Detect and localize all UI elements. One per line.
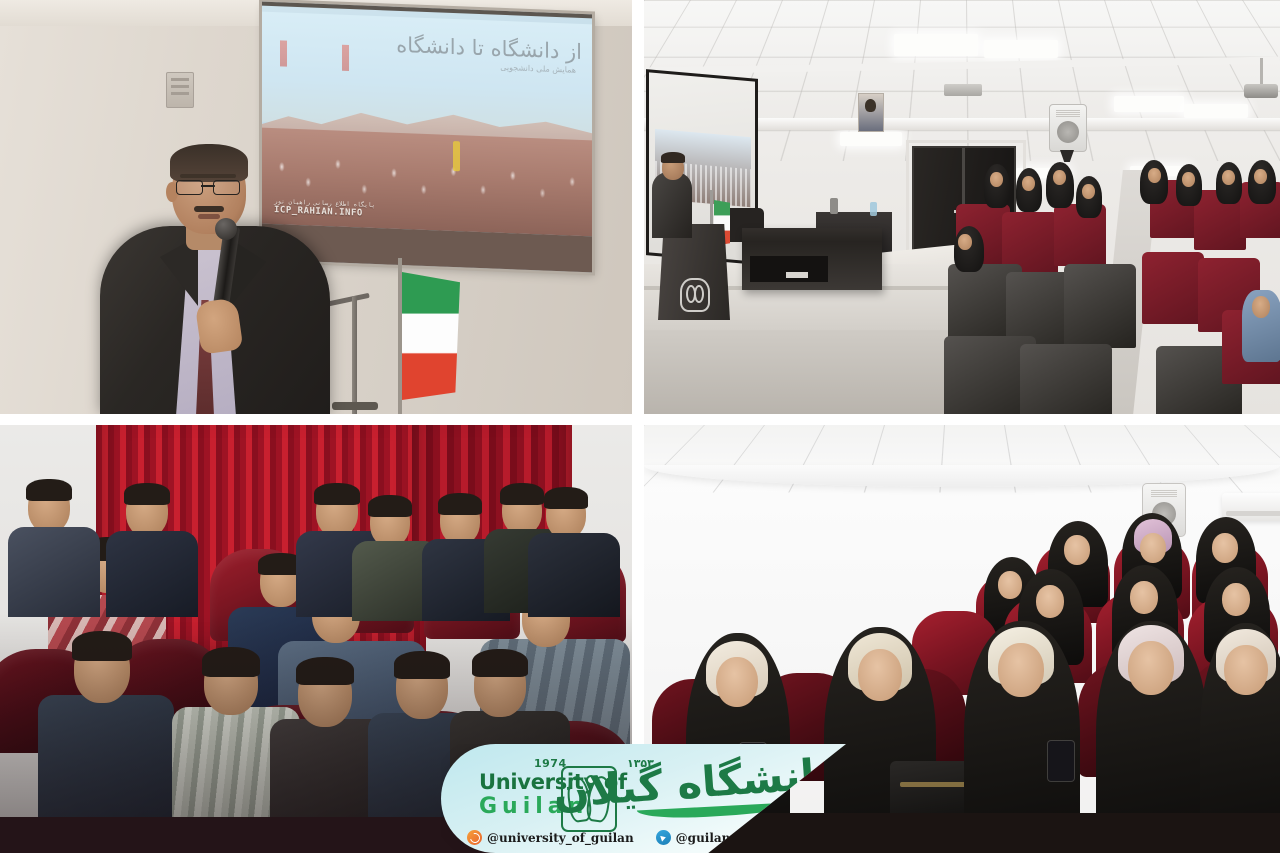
smartphone-icon — [1048, 741, 1074, 781]
person-hair — [438, 493, 482, 515]
photo-top-right-hall — [644, 0, 1280, 414]
person-torso — [106, 531, 198, 617]
speaker-hair — [661, 152, 685, 163]
ceiling-light-panel — [1114, 96, 1184, 112]
audience-face — [1252, 296, 1270, 318]
person-torso — [528, 533, 620, 617]
person-face — [716, 657, 758, 707]
person-face — [1140, 533, 1166, 563]
slide-flag-mid — [342, 45, 349, 71]
person-face — [1222, 583, 1250, 616]
person-hair — [202, 647, 260, 677]
hall-floor — [644, 330, 992, 414]
person-face — [1130, 581, 1158, 614]
audience-area — [954, 160, 1280, 414]
person-face — [1212, 533, 1238, 563]
person-hair — [500, 483, 544, 505]
mic-stand-pole — [352, 296, 357, 414]
person-face — [858, 649, 902, 701]
person-hair — [124, 483, 170, 505]
person-hair — [26, 479, 72, 501]
audience-face — [1148, 168, 1161, 183]
ceiling-light-panel — [894, 34, 978, 56]
person-face — [1128, 641, 1174, 695]
person-hair — [296, 657, 354, 685]
iran-flag-icon — [402, 272, 460, 400]
speaker-brow — [180, 174, 236, 178]
audience-face — [1053, 170, 1066, 185]
person-hair — [544, 487, 588, 509]
seat — [1020, 344, 1112, 414]
slide-yellow-banner — [453, 141, 460, 171]
slide-flag-left — [280, 40, 287, 66]
speaker-figure — [652, 172, 692, 238]
person-hair — [72, 631, 132, 661]
wall-portrait — [858, 93, 884, 132]
eyeglasses-icon — [176, 180, 240, 193]
audience-face — [1082, 184, 1095, 199]
person-face — [998, 643, 1044, 697]
photo-collage: از دانشگاه تا دانشگاه همایش ملی دانشجویی… — [0, 0, 1280, 853]
audience-face — [990, 172, 1003, 187]
speaker-mouth — [198, 214, 220, 219]
social-instagram[interactable]: @university_of_guilan — [467, 830, 634, 845]
water-bottle — [870, 202, 877, 216]
audience-face — [1182, 172, 1195, 187]
speaker-moustache — [194, 206, 224, 212]
projector-rod — [1260, 58, 1263, 86]
ceiling-light-panel — [1184, 104, 1248, 118]
seat — [1142, 252, 1204, 324]
person-torso — [8, 527, 100, 617]
instagram-icon[interactable] — [467, 830, 482, 845]
projector-icon — [1244, 84, 1278, 98]
person-hair — [472, 649, 528, 677]
stage-desk — [742, 228, 882, 290]
person-hair — [394, 651, 450, 679]
equipment-item — [830, 198, 838, 214]
seat — [1064, 264, 1136, 348]
audience-face — [958, 234, 972, 250]
audience-face — [1222, 170, 1235, 185]
ceiling-light-panel — [984, 40, 1058, 58]
audience-person — [954, 226, 984, 272]
person-hair — [314, 483, 360, 505]
flag-pole — [398, 258, 402, 414]
person-face — [1036, 585, 1064, 618]
audience-face — [1022, 176, 1035, 191]
slide-crowd — [262, 128, 592, 237]
instagram-handle[interactable]: @university_of_guilan — [487, 831, 634, 845]
ceiling-vent — [944, 84, 982, 96]
telegram-icon[interactable] — [656, 830, 671, 845]
photo-top-left-speaker: از دانشگاه تا دانشگاه همایش ملی دانشجویی… — [0, 0, 632, 414]
person-hair — [368, 495, 412, 517]
ceiling-light-panel — [840, 132, 902, 146]
wall-vent — [166, 72, 194, 108]
university-emblem-icon — [680, 278, 710, 312]
projector-screen: از دانشگاه تا دانشگاه همایش ملی دانشجویی… — [262, 2, 592, 273]
mic-stand-base — [332, 402, 378, 410]
wall-loudspeaker-icon — [1049, 104, 1087, 152]
person-face — [1224, 645, 1268, 695]
audience-face — [1254, 169, 1267, 184]
person-face — [1064, 535, 1090, 565]
person-face — [998, 571, 1022, 599]
audience-person — [1046, 162, 1074, 208]
